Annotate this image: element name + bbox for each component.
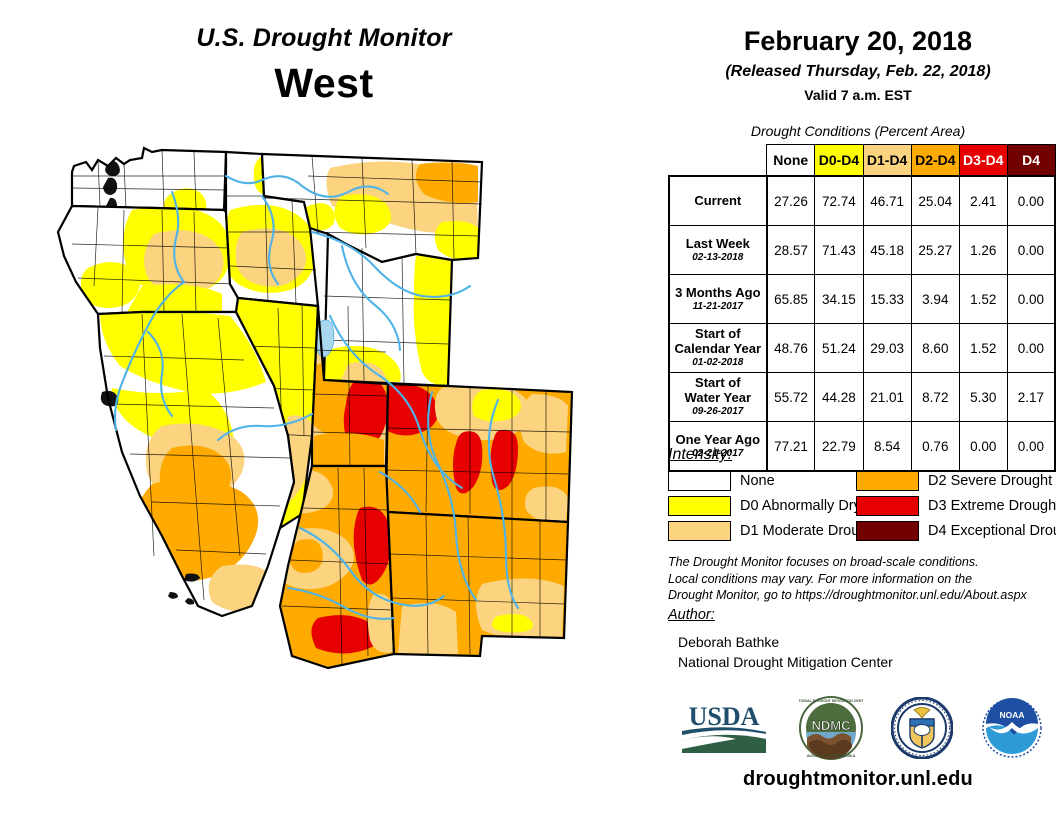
author-organization: National Drought Mitigation Center: [678, 652, 893, 672]
legend-item: None: [668, 468, 856, 493]
legend-item: D3 Extreme Drought: [856, 493, 1056, 518]
noaa-logo: NOAA: [982, 698, 1042, 758]
row-label-date: 09-26-2017: [670, 406, 766, 417]
row-label-text: Start ofWater Year: [685, 375, 752, 405]
table-row: Start ofWater Year09-26-201755.7244.2821…: [669, 373, 1055, 422]
table-col-header-d2-d4: D2-D4: [911, 145, 959, 177]
legend-label: D3 Extreme Drought: [928, 498, 1056, 514]
left-title-block: U.S. Drought Monitor West: [0, 24, 648, 107]
table-cell: 28.57: [767, 226, 815, 275]
row-label-text: Start ofCalendar Year: [675, 326, 761, 356]
legend-label: None: [740, 473, 775, 489]
legend-item: D4 Exceptional Drought: [856, 518, 1056, 543]
usda-logo: USDA: [678, 699, 770, 757]
table-cell: 1.26: [959, 226, 1007, 275]
legend-swatch: [668, 521, 731, 541]
table-col-header-d0-d4: D0-D4: [815, 145, 863, 177]
table-col-header-none: None: [767, 145, 815, 177]
table-cell: 0.76: [911, 422, 959, 472]
legend-label: D0 Abnormally Dry: [740, 498, 861, 514]
table-cell: 25.04: [911, 176, 959, 226]
row-label-text: One Year Ago: [676, 432, 761, 447]
row-label-text: Last Week: [686, 236, 750, 251]
table-row-label: Start ofWater Year09-26-2017: [669, 373, 767, 422]
legend-swatch: [856, 521, 919, 541]
table-cell: 29.03: [863, 324, 911, 373]
table-cell: 2.41: [959, 176, 1007, 226]
author-block: Deborah Bathke National Drought Mitigati…: [678, 632, 893, 673]
svg-text:USDA: USDA: [689, 702, 760, 731]
table-header-row: NoneD0-D4D1-D4D2-D4D3-D4D4: [669, 145, 1055, 177]
disclaimer-text: The Drought Monitor focuses on broad-sca…: [668, 554, 1056, 604]
svg-text:UNIVERSITY OF NEBRASKA: UNIVERSITY OF NEBRASKA: [806, 754, 855, 758]
row-label-text: 3 Months Ago: [675, 285, 760, 300]
usdc-logo: [891, 697, 953, 759]
table-cell: 8.60: [911, 324, 959, 373]
table-cell: 44.28: [815, 373, 863, 422]
legend-swatch: [856, 471, 919, 491]
table-row: Last Week02-13-201828.5771.4345.1825.271…: [669, 226, 1055, 275]
ndmc-logo: NDMC NATIONAL DROUGHT MITIGATION CENTER …: [799, 696, 863, 760]
table-cell: 15.33: [863, 275, 911, 324]
legend: NoneD2 Severe DroughtD0 Abnormally DryD3…: [668, 468, 1056, 543]
table-row: 3 Months Ago11-21-201765.8534.1515.333.9…: [669, 275, 1055, 324]
svg-text:NDMC: NDMC: [811, 718, 851, 733]
row-label-date: 11-21-2017: [670, 301, 766, 312]
table-cell: 3.94: [911, 275, 959, 324]
disclaimer-line: The Drought Monitor focuses on broad-sca…: [668, 554, 1056, 571]
table-cell: 0.00: [959, 422, 1007, 472]
legend-label: D4 Exceptional Drought: [928, 523, 1056, 539]
d1-area-ca-se: [209, 565, 272, 612]
table-col-header-d4: D4: [1007, 145, 1055, 177]
table-cell: 0.00: [1007, 226, 1055, 275]
region-title: West: [0, 60, 648, 107]
author-heading: Author:: [668, 607, 715, 623]
intensity-heading: Intensity:: [668, 446, 732, 464]
table-cell: 25.27: [911, 226, 959, 275]
issue-header: February 20, 2018 (Released Thursday, Fe…: [660, 26, 1056, 103]
table-cell: 8.72: [911, 373, 959, 422]
table-cell: 65.85: [767, 275, 815, 324]
legend-label: D2 Severe Drought: [928, 473, 1052, 489]
table-cell: 22.79: [815, 422, 863, 472]
table-cell: 51.24: [815, 324, 863, 373]
table-cell: 27.26: [767, 176, 815, 226]
map-svg[interactable]: [12, 136, 652, 804]
logo-row: USDA NDMC NATIONAL DROUGHT MITIGATION CE…: [664, 692, 1056, 764]
table-cell: 72.74: [815, 176, 863, 226]
site-url: droughtmonitor.unl.edu: [660, 768, 1056, 791]
table-cell: 48.76: [767, 324, 815, 373]
table-header: NoneD0-D4D1-D4D2-D4D3-D4D4: [669, 145, 1055, 177]
disclaimer-line: Local conditions may vary. For more info…: [668, 571, 1056, 588]
table-cell: 0.00: [1007, 176, 1055, 226]
table-row: Start ofCalendar Year01-02-201848.7651.2…: [669, 324, 1055, 373]
state-oregon: [58, 206, 238, 314]
table-row-label: Last Week02-13-2018: [669, 226, 767, 275]
author-name: Deborah Bathke: [678, 632, 893, 652]
release-date: (Released Thursday, Feb. 22, 2018): [660, 63, 1056, 81]
table-cell: 46.71: [863, 176, 911, 226]
table-cell: 0.00: [1007, 422, 1055, 472]
table-cell: 77.21: [767, 422, 815, 472]
table-cell: 34.15: [815, 275, 863, 324]
table-cell: 1.52: [959, 324, 1007, 373]
table-cell: 5.30: [959, 373, 1007, 422]
table-cell: 0.00: [1007, 275, 1055, 324]
state-new-mexico: [388, 512, 568, 656]
table-row-label: Start ofCalendar Year01-02-2018: [669, 324, 767, 373]
legend-swatch: [856, 496, 919, 516]
page-title: U.S. Drought Monitor: [0, 24, 648, 53]
table-cell: 21.01: [863, 373, 911, 422]
svg-text:NOAA: NOAA: [999, 710, 1024, 720]
legend-item: D1 Moderate Drought: [668, 518, 856, 543]
table-col-header-d1-d4: D1-D4: [863, 145, 911, 177]
table-cell: 1.52: [959, 275, 1007, 324]
row-label-text: Current: [694, 193, 741, 208]
disclaimer-line: Drought Monitor, go to https://droughtmo…: [668, 587, 1056, 604]
table-cell: 71.43: [815, 226, 863, 275]
d2-area-az-w: [290, 539, 323, 573]
table-caption: Drought Conditions (Percent Area): [660, 123, 1056, 139]
table-col-header-d3-d4: D3-D4: [959, 145, 1007, 177]
d2-area-ut-s: [312, 433, 384, 466]
table-cell: 2.17: [1007, 373, 1055, 422]
table-row: Current27.2672.7446.7125.042.410.00: [669, 176, 1055, 226]
row-label-date: 01-02-2018: [670, 357, 766, 368]
svg-text:NATIONAL DROUGHT MITIGATION CE: NATIONAL DROUGHT MITIGATION CENTER: [799, 699, 863, 703]
table-cell: 55.72: [767, 373, 815, 422]
legend-swatch: [668, 496, 731, 516]
table-row-label: Current: [669, 176, 767, 226]
issue-date: February 20, 2018: [660, 26, 1056, 57]
legend-item: D2 Severe Drought: [856, 468, 1056, 493]
map-layer-states: [58, 148, 572, 668]
table-cell: 8.54: [863, 422, 911, 472]
table-cell: 45.18: [863, 226, 911, 275]
table-corner-cell: [669, 145, 767, 177]
row-label-date: 02-13-2018: [670, 252, 766, 263]
drought-map[interactable]: [12, 136, 652, 804]
table-cell: 0.00: [1007, 324, 1055, 373]
table-body: Current27.2672.7446.7125.042.410.00Last …: [669, 176, 1055, 471]
legend-swatch: [668, 471, 731, 491]
valid-time: Valid 7 a.m. EST: [660, 87, 1056, 103]
table-row-label: 3 Months Ago11-21-2017: [669, 275, 767, 324]
drought-conditions-table: NoneD0-D4D1-D4D2-D4D3-D4D4 Current27.267…: [668, 144, 1056, 472]
legend-item: D0 Abnormally Dry: [668, 493, 856, 518]
state-colorado: [382, 383, 572, 522]
